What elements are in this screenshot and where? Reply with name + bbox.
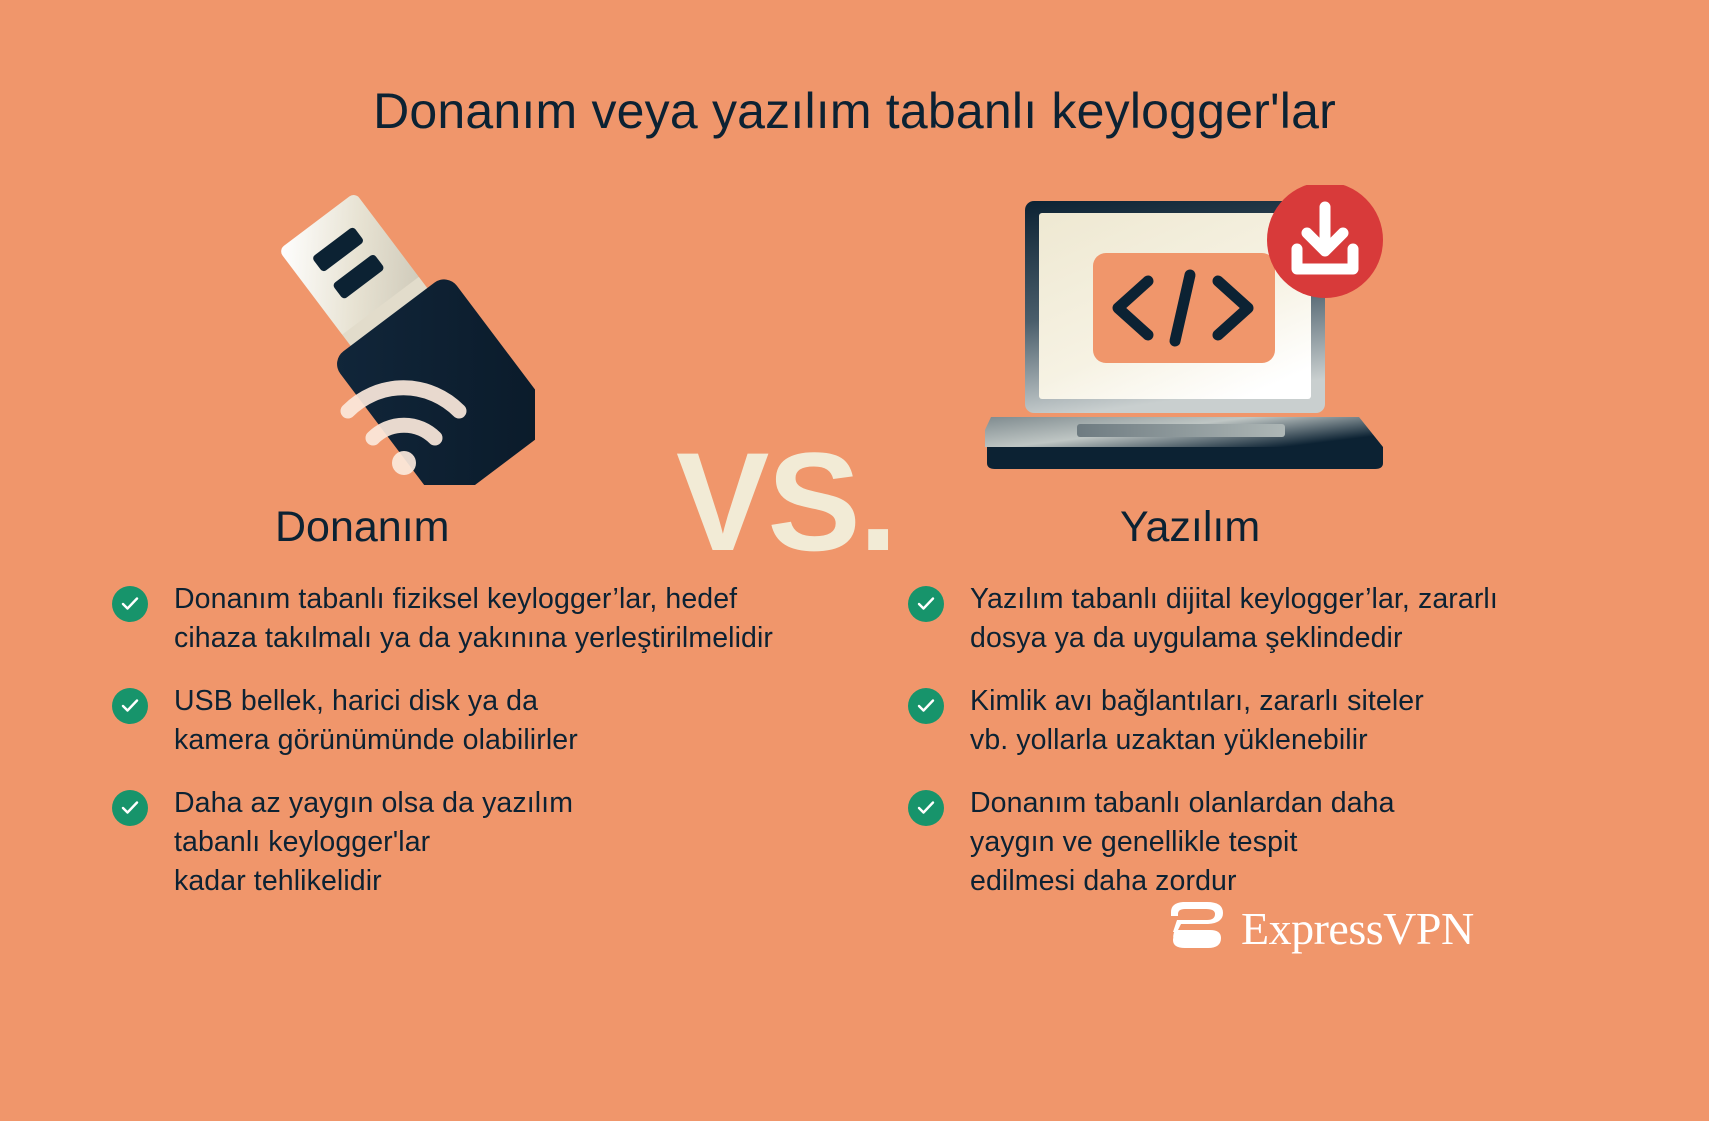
brand-name: ExpressVPN — [1241, 906, 1474, 952]
list-item: Daha az yaygın olsa da yazılım tabanlı k… — [112, 784, 872, 901]
expressvpn-logo-icon — [1163, 898, 1227, 959]
check-icon — [908, 586, 944, 622]
check-icon — [908, 790, 944, 826]
list-item-text: Donanım tabanlı fiziksel keylogger’lar, … — [174, 580, 773, 658]
list-item-text: Donanım tabanlı olanlardan daha yaygın v… — [970, 784, 1395, 901]
usb-drive-wireless-icon — [215, 195, 535, 485]
list-item: Donanım tabanlı fiziksel keylogger’lar, … — [112, 580, 872, 658]
list-item: Kimlik avı bağlantıları, zararlı siteler… — [908, 682, 1668, 760]
bullet-list-software: Yazılım tabanlı dijital keylogger’lar, z… — [908, 580, 1668, 925]
page-title: Donanım veya yazılım tabanlı keylogger'l… — [0, 82, 1709, 140]
list-item-text: Kimlik avı bağlantıları, zararlı siteler… — [970, 682, 1424, 760]
list-item-text: Daha az yaygın olsa da yazılım tabanlı k… — [174, 784, 573, 901]
laptop-code-download-icon — [985, 185, 1405, 485]
list-item: Yazılım tabanlı dijital keylogger’lar, z… — [908, 580, 1668, 658]
list-item: USB bellek, harici disk ya da kamera gör… — [112, 682, 872, 760]
check-icon — [112, 790, 148, 826]
brand-logo: ExpressVPN — [1163, 898, 1474, 959]
column-heading-hardware: Donanım — [275, 503, 449, 552]
check-icon — [112, 586, 148, 622]
column-heading-software: Yazılım — [1120, 503, 1260, 552]
versus-label: VS. — [676, 432, 896, 572]
bullet-list-hardware: Donanım tabanlı fiziksel keylogger’lar, … — [112, 580, 872, 925]
list-item: Donanım tabanlı olanlardan daha yaygın v… — [908, 784, 1668, 901]
infographic-canvas: Donanım veya yazılım tabanlı keylogger'l… — [0, 0, 1709, 1121]
list-item-text: Yazılım tabanlı dijital keylogger’lar, z… — [970, 580, 1498, 658]
check-icon — [112, 688, 148, 724]
list-item-text: USB bellek, harici disk ya da kamera gör… — [174, 682, 578, 760]
check-icon — [908, 688, 944, 724]
